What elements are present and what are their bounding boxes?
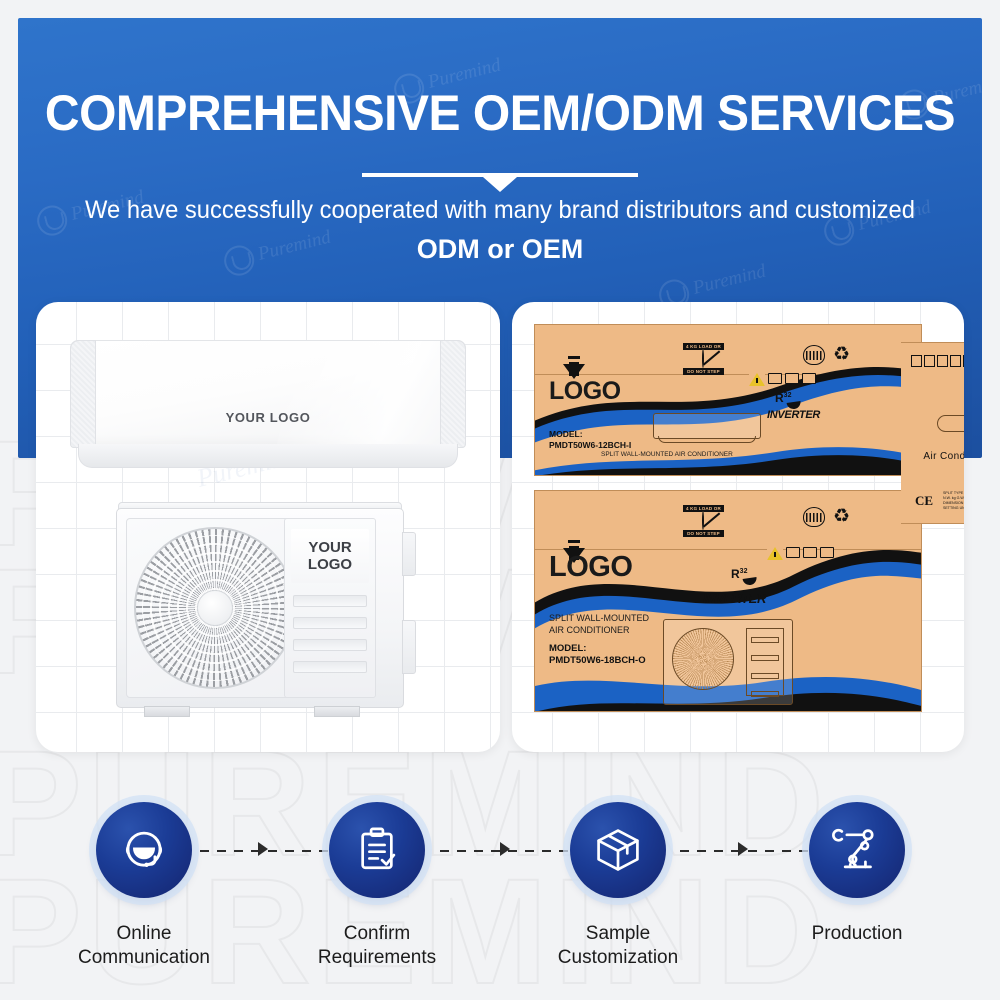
carton-spec-text: SPLIT TYPE (Indoor Unit) N.W. kg G.W. kg…	[943, 491, 964, 510]
handle-icon	[820, 547, 834, 558]
package-box-icon	[570, 802, 666, 898]
step-label: Online Communication	[39, 922, 249, 970]
clipboard-check-icon	[329, 802, 425, 898]
step-arrow-2	[500, 842, 510, 856]
process-steps: Online Communication Confirm Requirement…	[0, 788, 1000, 1000]
outdoor-unit-illustration	[663, 619, 793, 705]
carton-model-text: MODEL:PMDT50W6-12BCH-I	[549, 429, 631, 451]
process-step-confirm-requirements[interactable]: Confirm Requirements	[272, 788, 482, 970]
step-label: Production	[752, 922, 962, 946]
product-card-packaging: Puremind Puremind 4 KG LOAD OR DO NOT ST…	[512, 302, 964, 752]
info-icon	[803, 547, 817, 558]
outdoor-unit-image: YOUR LOGO	[116, 508, 404, 708]
carton-box-outdoor: 4 KG LOAD OR DO NOT STEP ♻ LOGO SPLIT WA…	[534, 490, 922, 712]
handle-icon	[802, 373, 816, 384]
carton-description-text: SPLIT WALL-MOUNTED AIR CONDITIONER	[549, 613, 649, 636]
indoor-unit-image: YOUR LOGO	[70, 340, 466, 468]
handle-cutout	[937, 415, 965, 432]
title-divider	[362, 173, 638, 177]
handling-icons	[749, 373, 816, 386]
recycle-icon: ♻	[831, 507, 852, 526]
side-product-name: Air Conditioner	[901, 451, 964, 462]
info-icon	[785, 373, 799, 384]
step-label: Sample Customization	[513, 922, 723, 970]
do-not-step-icon: 4 KG LOAD OR DO NOT STEP	[683, 505, 724, 537]
process-step-sample-customization[interactable]: Sample Customization	[513, 788, 723, 970]
header-subtitle: We have successfully cooperated with man…	[42, 196, 958, 225]
robot-arm-icon	[809, 802, 905, 898]
inverter-label: INVERTER	[703, 591, 766, 606]
ce-mark: CE	[915, 493, 933, 509]
carton-model-text: MODEL:PMDT50W6-18BCH-O	[549, 643, 646, 667]
carton-description-text: SPLIT WALL-MOUNTED AIR CONDITIONER	[601, 451, 733, 459]
carton-box-indoor: 4 KG LOAD OR DO NOT STEP ♻ LOGO MODEL:PM…	[534, 324, 922, 476]
recycle-icon: ♻	[831, 345, 852, 364]
handling-icons	[767, 547, 834, 560]
product-card-units: Puremind YOUR LOGO YOUR LOGO	[36, 302, 500, 752]
step-label: Confirm Requirements	[272, 922, 482, 970]
quality-stamp-icon	[803, 345, 825, 365]
manual-icon	[786, 547, 800, 558]
do-not-step-icon: 4 KG LOAD OR DO NOT STEP	[683, 343, 724, 375]
indoor-unit-logo-text: YOUR LOGO	[70, 410, 466, 425]
outdoor-unit-logo-text: YOUR LOGO	[291, 529, 369, 583]
carton-logo-text: LOGO	[549, 377, 621, 406]
process-step-production[interactable]: Production	[752, 788, 962, 946]
refrigerant-label: R32	[731, 567, 747, 581]
carton-side-panel-outdoor: Air Conditioner CE SPLIT TYPE (Indoor Un…	[901, 342, 964, 524]
carton-logo-text: LOGO	[549, 551, 632, 584]
headset-support-icon	[96, 802, 192, 898]
quality-stamp-icon	[803, 507, 825, 527]
step-arrow-1	[258, 842, 268, 856]
fan-icon	[134, 527, 296, 689]
warning-icon	[767, 547, 783, 560]
step-arrow-3	[738, 842, 748, 856]
process-step-online-communication[interactable]: Online Communication	[39, 788, 249, 970]
inverter-label: INVERTER	[767, 409, 820, 421]
manual-icon	[768, 373, 782, 384]
refrigerant-label: R32	[775, 391, 791, 405]
header-subtitle-strong: ODM or OEM	[18, 234, 982, 265]
page-title: COMPREHENSIVE OEM/ODM SERVICES	[37, 84, 962, 142]
indoor-unit-illustration	[653, 413, 761, 439]
warning-icon	[749, 373, 765, 386]
handling-side-icons	[911, 355, 964, 367]
